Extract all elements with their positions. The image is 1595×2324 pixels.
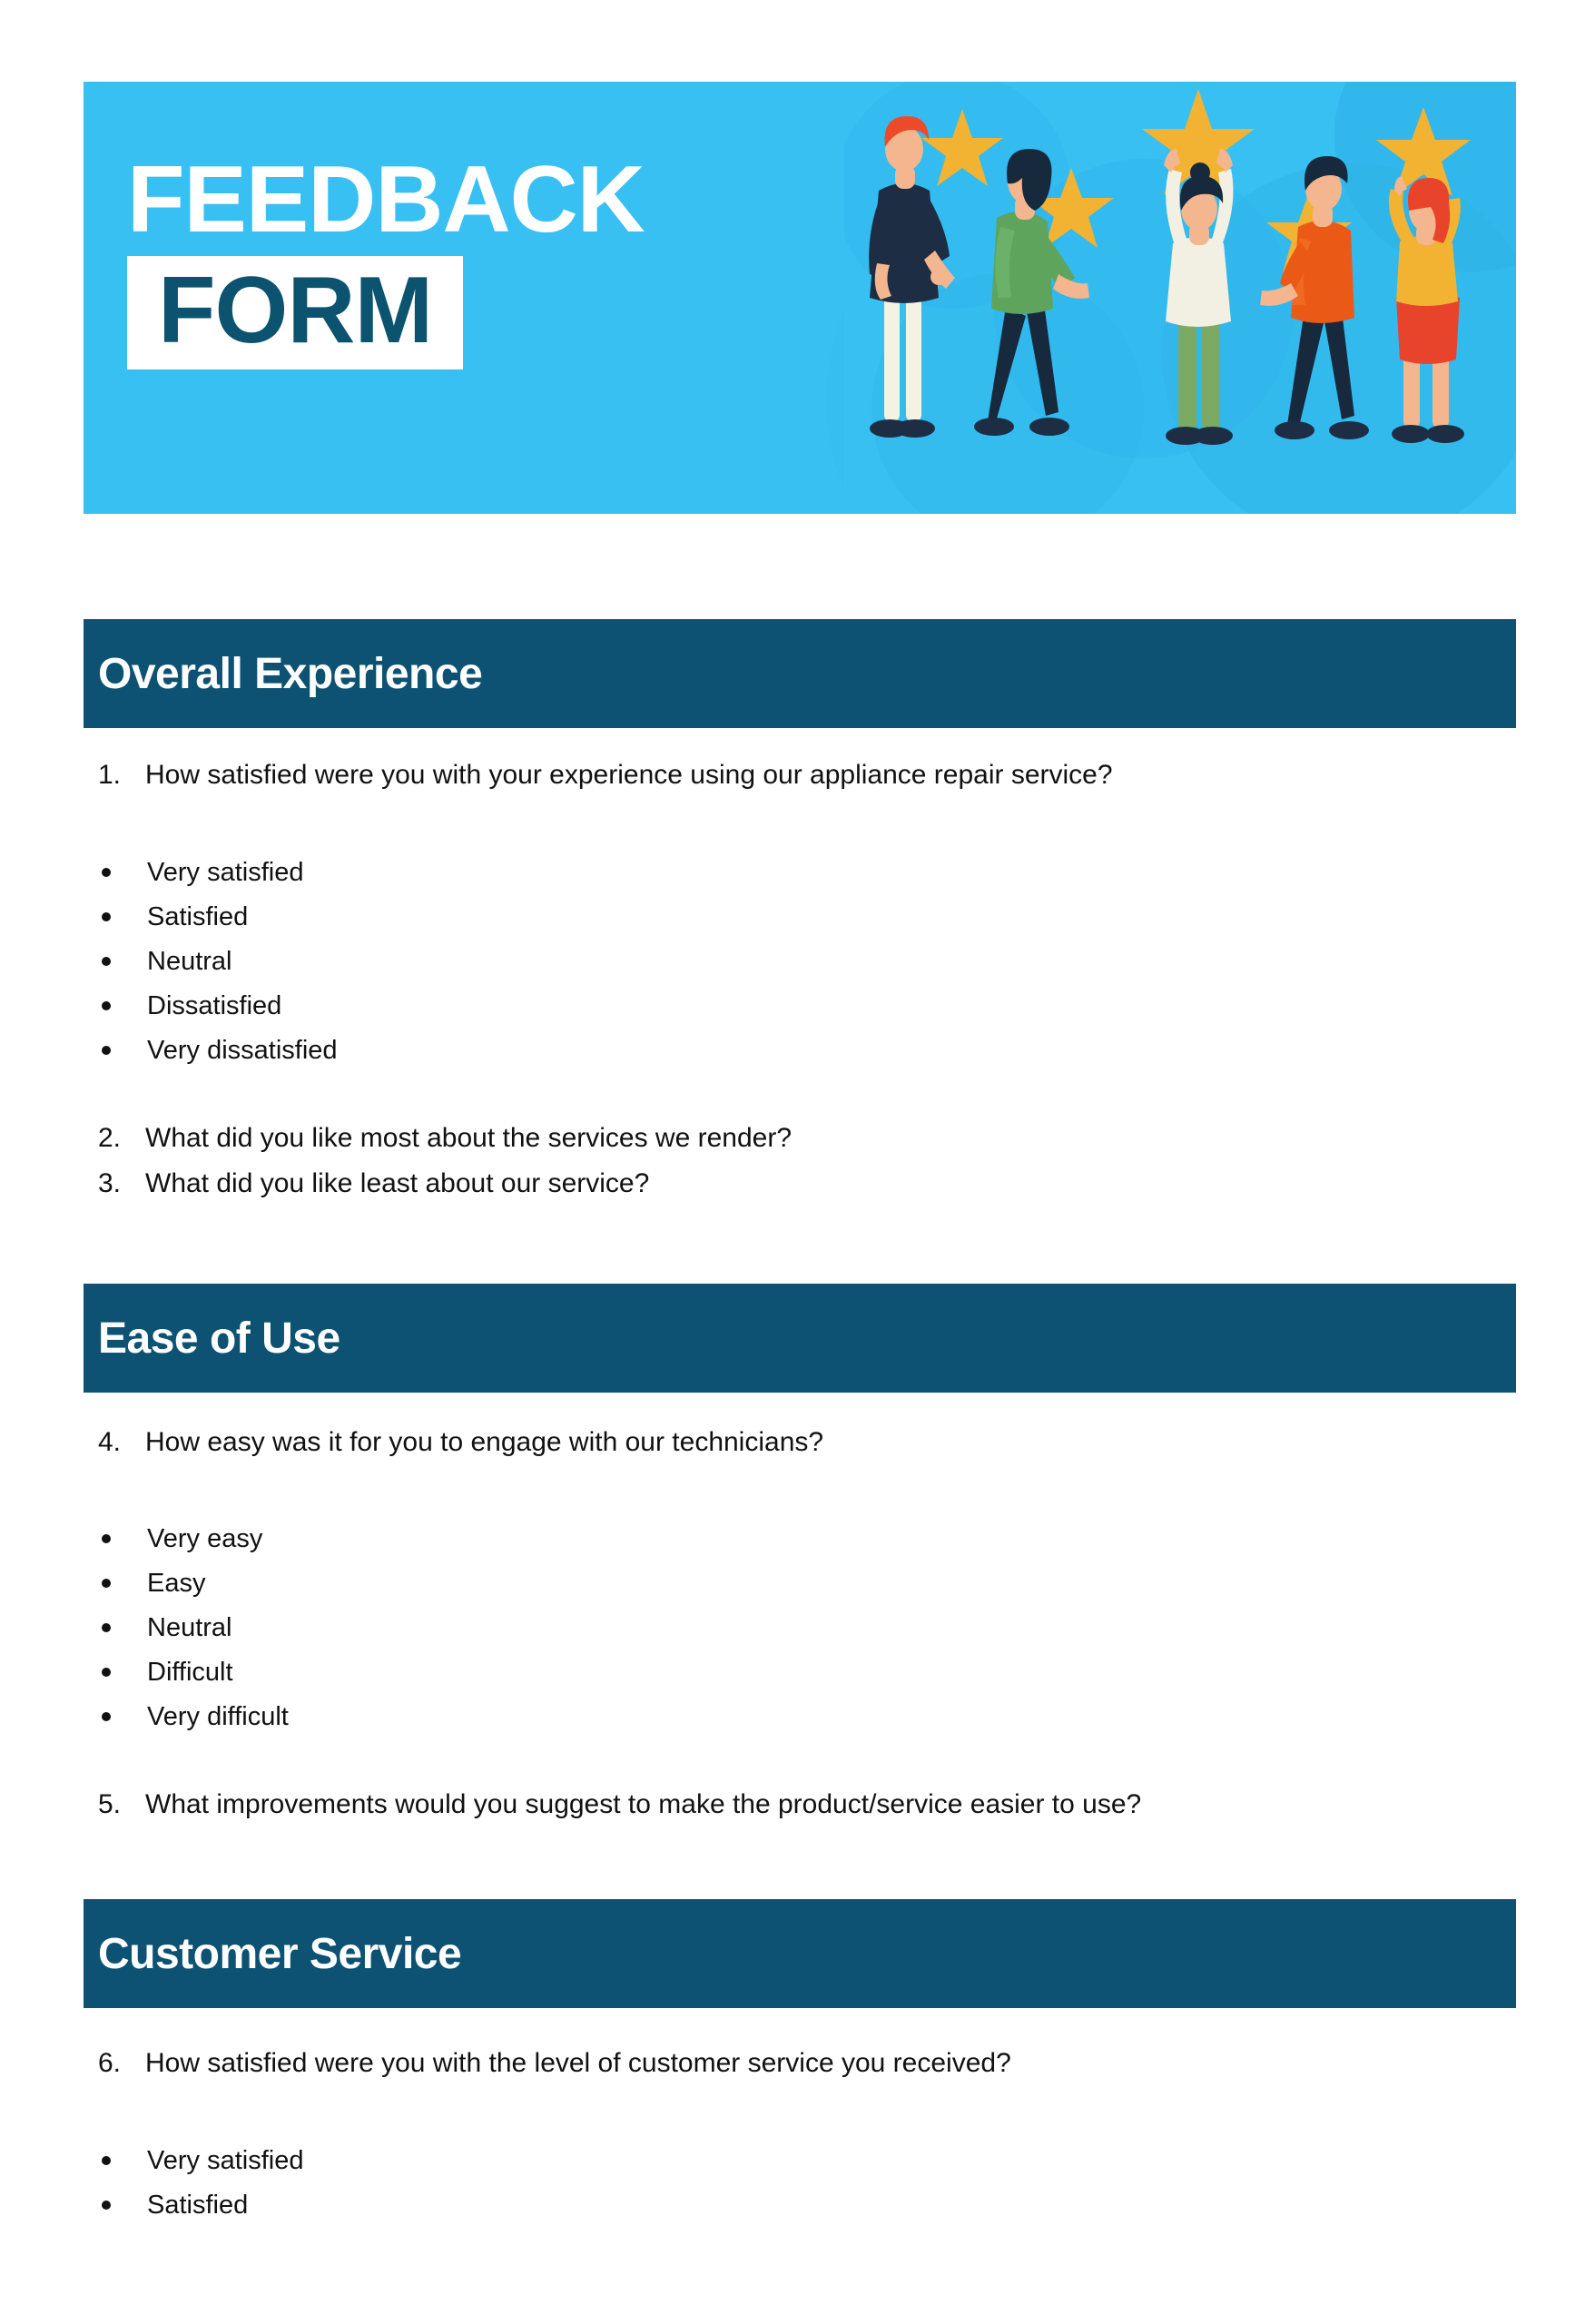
header-banner: FEEDBACK FORM — [84, 82, 1516, 514]
option-label: Very satisfied — [147, 2145, 303, 2176]
option-item[interactable]: Neutral — [102, 1612, 232, 1643]
question-text: How satisfied were you with your experie… — [145, 759, 1113, 793]
people-with-stars-illustration — [844, 82, 1516, 514]
question-item: 4. How easy was it for you to engage wit… — [98, 1426, 823, 1460]
option-item[interactable]: Easy — [102, 1568, 205, 1599]
option-item[interactable]: Satisfied — [102, 2190, 248, 2221]
option-label: Satisfied — [147, 2190, 248, 2221]
bullet-icon — [102, 868, 111, 877]
section-header-customer-service: Customer Service — [84, 1899, 1516, 2008]
bullet-icon — [102, 1668, 111, 1677]
question-item: 6. How satisfied were you with the level… — [98, 2047, 1011, 2081]
question-number: 3. — [98, 1167, 145, 1201]
bullet-icon — [102, 1712, 111, 1721]
question-item: 2. What did you like most about the serv… — [98, 1122, 792, 1156]
bullet-icon — [102, 2201, 111, 2210]
feedback-form-page: FEEDBACK FORM — [0, 0, 1595, 2324]
option-label: Very difficult — [147, 1701, 289, 1732]
question-number: 6. — [98, 2047, 145, 2081]
option-label: Neutral — [147, 946, 232, 977]
question-item: 1. How satisfied were you with your expe… — [98, 759, 1113, 793]
bullet-icon — [102, 1046, 111, 1055]
option-label: Neutral — [147, 1612, 232, 1643]
option-label: Dissatisfied — [147, 990, 281, 1021]
section-header-overall-experience: Overall Experience — [84, 619, 1516, 728]
option-item[interactable]: Neutral — [102, 946, 232, 977]
question-number: 5. — [98, 1788, 145, 1822]
option-item[interactable]: Dissatisfied — [102, 990, 281, 1021]
title-form-highlight-box: FORM — [127, 256, 463, 369]
bullet-icon — [102, 1579, 111, 1588]
option-label: Very dissatisfied — [147, 1035, 338, 1066]
option-item[interactable]: Satisfied — [102, 901, 248, 932]
page-title: FEEDBACK FORM — [127, 153, 645, 369]
section-header-ease-of-use: Ease of Use — [84, 1284, 1516, 1393]
bullet-icon — [102, 957, 111, 966]
option-label: Very easy — [147, 1523, 262, 1554]
option-label: Difficult — [147, 1657, 233, 1688]
title-line-feedback: FEEDBACK — [127, 153, 645, 247]
question-text: What did you like most about the service… — [145, 1122, 792, 1156]
bullet-icon — [102, 1623, 111, 1632]
question-item: 3. What did you like least about our ser… — [98, 1167, 649, 1201]
section-title: Ease of Use — [98, 1314, 340, 1364]
option-label: Very satisfied — [147, 857, 303, 888]
bullet-icon — [102, 912, 111, 921]
option-item[interactable]: Very satisfied — [102, 2145, 303, 2176]
question-item: 5. What improvements would you suggest t… — [98, 1788, 1141, 1822]
question-text: What did you like least about our servic… — [145, 1167, 649, 1201]
option-item[interactable]: Very dissatisfied — [102, 1035, 338, 1066]
bullet-icon — [102, 1534, 111, 1543]
question-text: How satisfied were you with the level of… — [145, 2047, 1011, 2081]
question-text: How easy was it for you to engage with o… — [145, 1426, 823, 1460]
option-label: Easy — [147, 1568, 205, 1599]
bullet-icon — [102, 1001, 111, 1010]
option-item[interactable]: Very difficult — [102, 1701, 289, 1732]
section-title: Overall Experience — [98, 649, 482, 699]
option-label: Satisfied — [147, 901, 248, 932]
question-number: 1. — [98, 759, 145, 793]
section-title: Customer Service — [98, 1929, 461, 1979]
bullet-icon — [102, 2156, 111, 2165]
option-item[interactable]: Very easy — [102, 1523, 262, 1554]
question-text: What improvements would you suggest to m… — [145, 1788, 1141, 1822]
option-item[interactable]: Difficult — [102, 1657, 233, 1688]
option-item[interactable]: Very satisfied — [102, 857, 303, 888]
question-number: 2. — [98, 1122, 145, 1156]
question-number: 4. — [98, 1426, 145, 1460]
title-line-form: FORM — [158, 261, 432, 360]
